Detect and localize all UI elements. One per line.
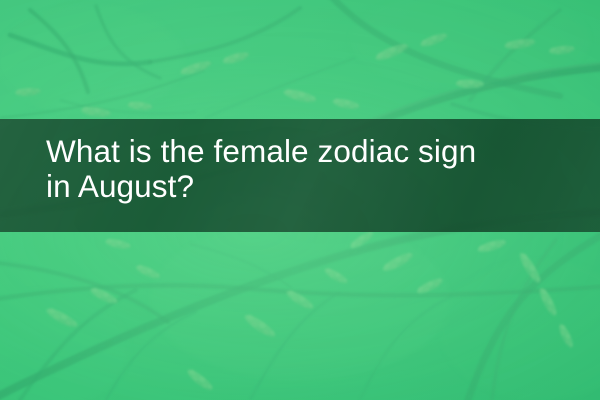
image-canvas: What is the female zodiac sign in August… xyxy=(0,0,600,400)
question-text: What is the female zodiac sign in August… xyxy=(46,134,582,204)
caption-overlay-band: What is the female zodiac sign in August… xyxy=(0,119,600,232)
